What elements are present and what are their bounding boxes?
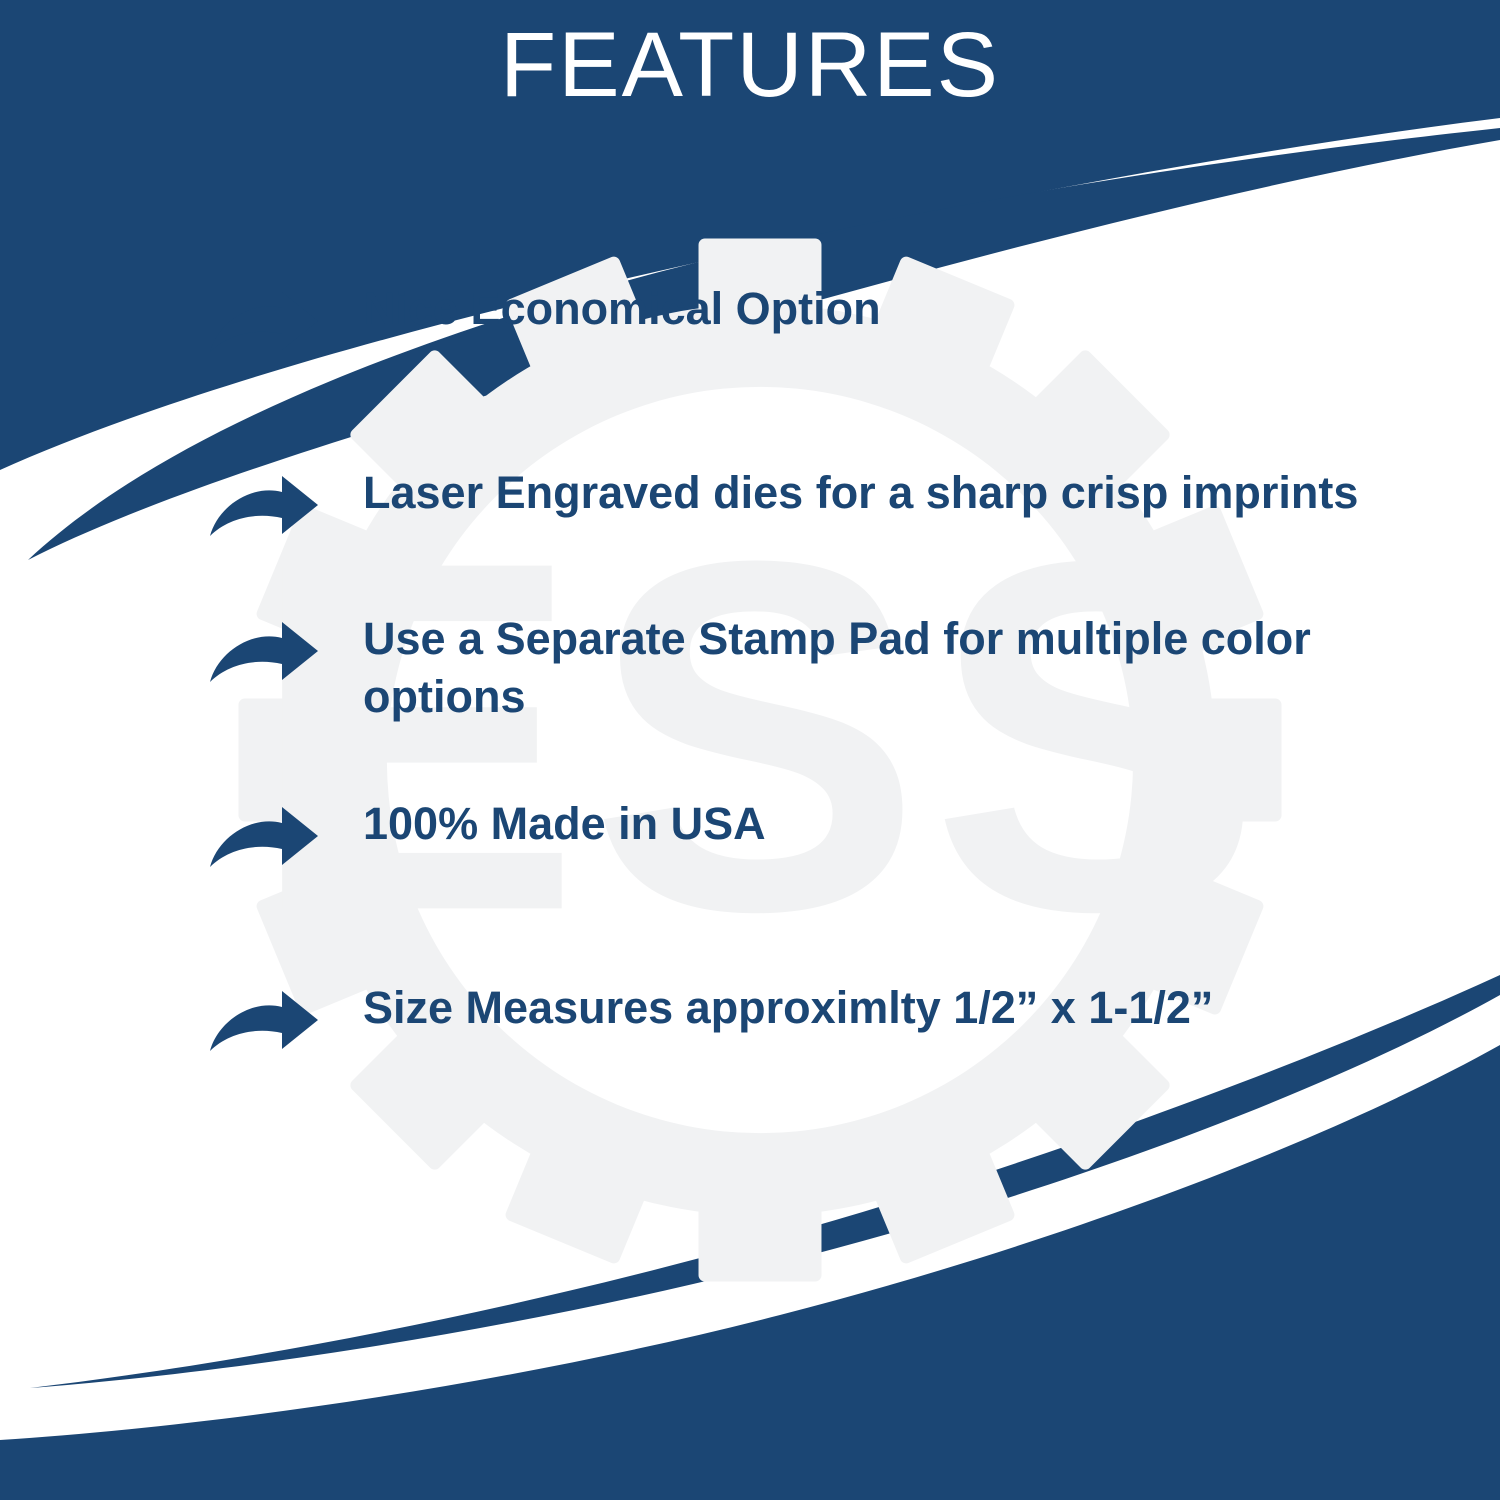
features-banner: ESS FEATURES Nice Economical Option Lase… — [0, 0, 1500, 1500]
curved-arrow-right-icon — [208, 979, 363, 1055]
list-item: Size Measures approximlty 1/2” x 1-1/2” — [0, 979, 1500, 1055]
list-item: Use a Separate Stamp Pad for multiple co… — [0, 610, 1500, 725]
list-item: Nice Economical Option — [0, 280, 1500, 356]
header: FEATURES — [0, 0, 1500, 130]
list-item-label: Use a Separate Stamp Pad for multiple co… — [363, 610, 1460, 725]
list-item-label: 100% Made in USA — [363, 795, 766, 853]
list-item-label: Laser Engraved dies for a sharp crisp im… — [363, 464, 1358, 522]
curved-arrow-right-icon — [208, 280, 363, 356]
curved-arrow-right-icon — [208, 610, 363, 686]
features-list: Nice Economical Option Laser Engraved di… — [0, 280, 1500, 1055]
list-item-label: Nice Economical Option — [363, 280, 881, 338]
list-item: Laser Engraved dies for a sharp crisp im… — [0, 464, 1500, 540]
bottom-navy-wave — [0, 1045, 1500, 1500]
list-item: 100% Made in USA — [0, 795, 1500, 871]
list-item-label: Size Measures approximlty 1/2” x 1-1/2” — [363, 979, 1213, 1037]
curved-arrow-right-icon — [208, 464, 363, 540]
curved-arrow-right-icon — [208, 795, 363, 871]
page-title: FEATURES — [500, 19, 1000, 111]
